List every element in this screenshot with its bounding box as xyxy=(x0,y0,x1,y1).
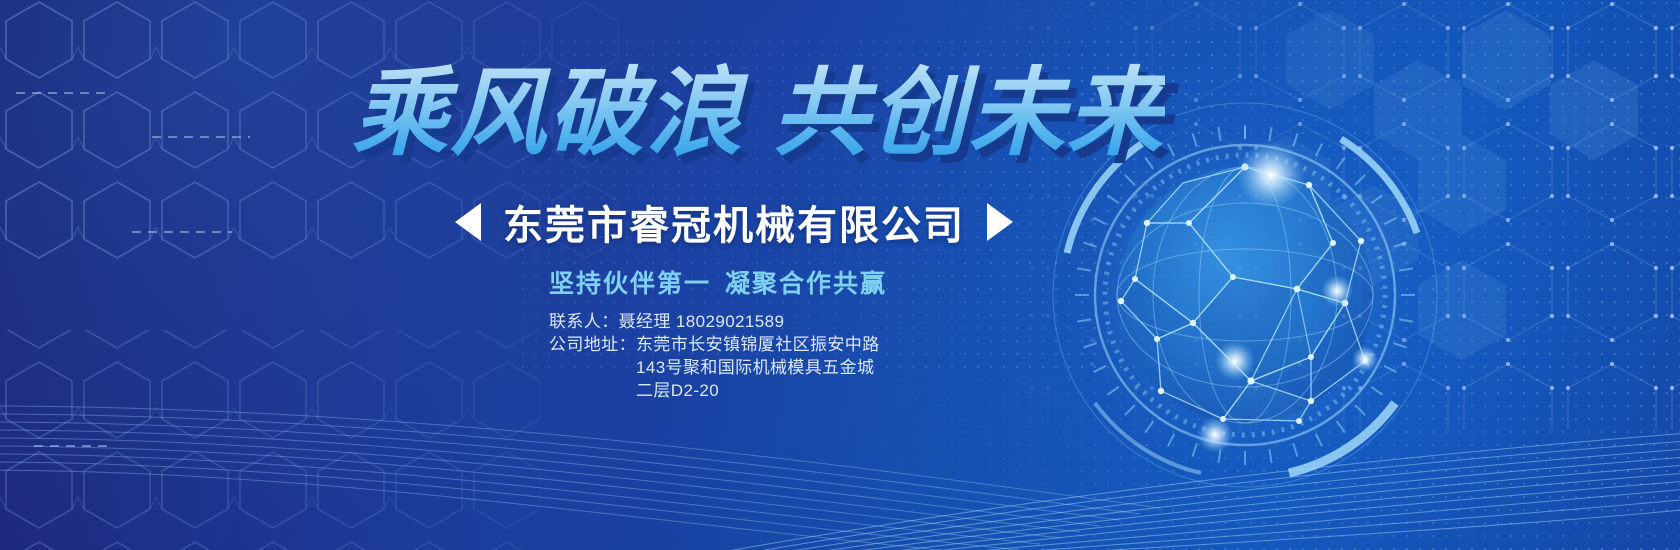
triangle-right-icon xyxy=(987,203,1013,241)
triangle-left-icon xyxy=(455,203,481,241)
slogan: 坚持伙伴第一凝聚合作共赢 xyxy=(549,264,887,300)
company-address-label: 公司地址： xyxy=(549,333,636,356)
company-address-value: 东莞市长安镇锦厦社区振安中路143号聚和国际机械模具五金城二层D2-20 xyxy=(636,333,886,402)
company-name-row: 东莞市睿冠机械有限公司 xyxy=(455,196,1013,248)
company-address-line: 公司地址： 东莞市长安镇锦厦社区振安中路143号聚和国际机械模具五金城二层D2-… xyxy=(549,333,886,402)
company-name: 东莞市睿冠机械有限公司 xyxy=(503,193,965,251)
slogan-part-1: 坚持伙伴第一 xyxy=(549,270,711,298)
page-title-text: 乘风破浪 共创未来 xyxy=(352,60,1165,167)
contact-info: 联系人：聂经理 18029021589 公司地址： 东莞市长安镇锦厦社区振安中路… xyxy=(549,310,886,402)
promo-banner: 乘风破浪 共创未来 乘风破浪 共创未来 东莞市睿冠机械有限公司 坚持伙伴第一凝聚… xyxy=(0,0,1680,550)
slogan-part-2: 凝聚合作共赢 xyxy=(725,270,887,298)
page-title: 乘风破浪 共创未来 乘风破浪 共创未来 xyxy=(352,62,1165,166)
contact-person-line: 联系人：聂经理 18029021589 xyxy=(549,310,886,333)
